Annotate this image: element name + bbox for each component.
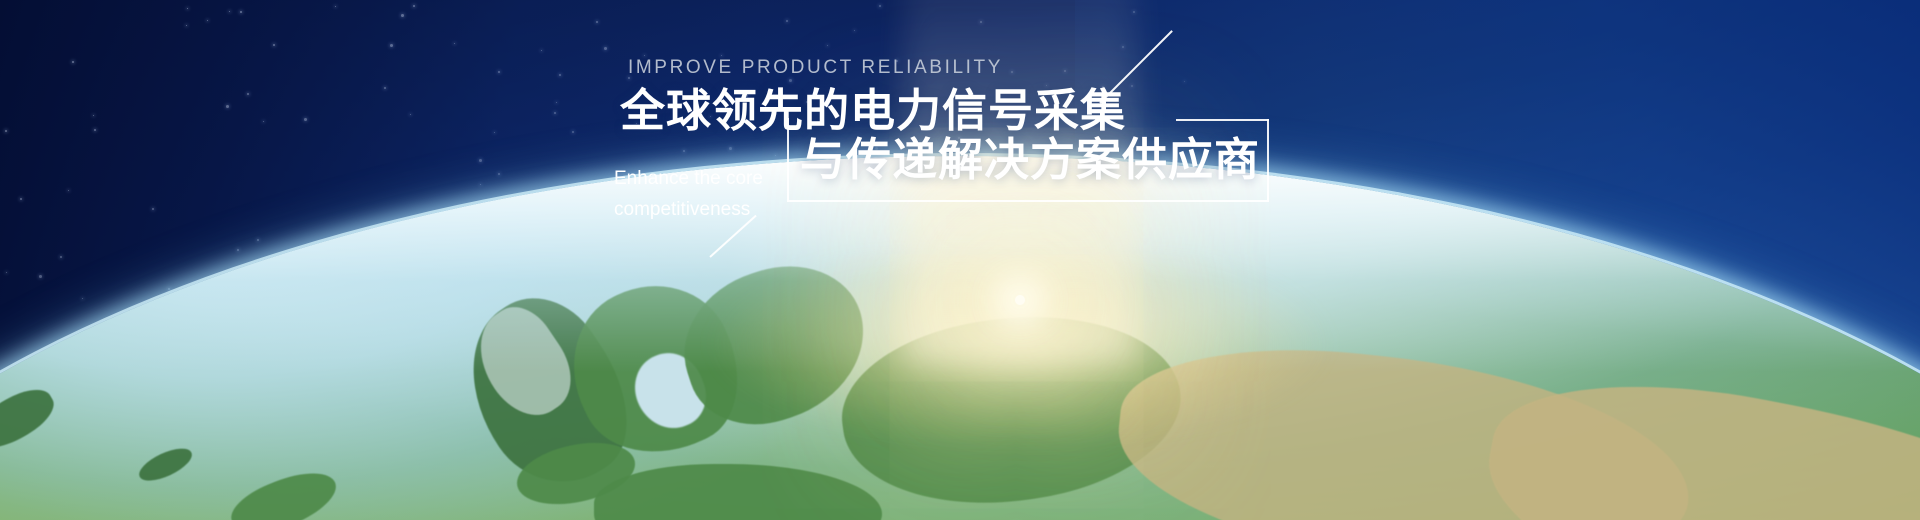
bracket-frame-top-edge bbox=[1176, 119, 1269, 121]
bracket-frame-left-edge bbox=[787, 118, 789, 202]
banner-copy: IMPROVE PRODUCT RELIABILITY 全球领先的电力信号采集 … bbox=[0, 0, 1920, 520]
hero-banner: IMPROVE PRODUCT RELIABILITY 全球领先的电力信号采集 … bbox=[0, 0, 1920, 520]
banner-headline-line1: 全球领先的电力信号采集 bbox=[620, 84, 1126, 137]
diagonal-accent-top-icon bbox=[1099, 30, 1173, 104]
banner-headline-line2: 与传递解决方案供应商 bbox=[800, 133, 1260, 186]
bracket-frame-bottom-edge bbox=[787, 200, 1269, 202]
bracket-frame-right-edge bbox=[1267, 119, 1269, 202]
banner-subtitle: Enhance the core competitiveness bbox=[614, 164, 774, 226]
banner-kicker: IMPROVE PRODUCT RELIABILITY bbox=[628, 57, 1003, 79]
